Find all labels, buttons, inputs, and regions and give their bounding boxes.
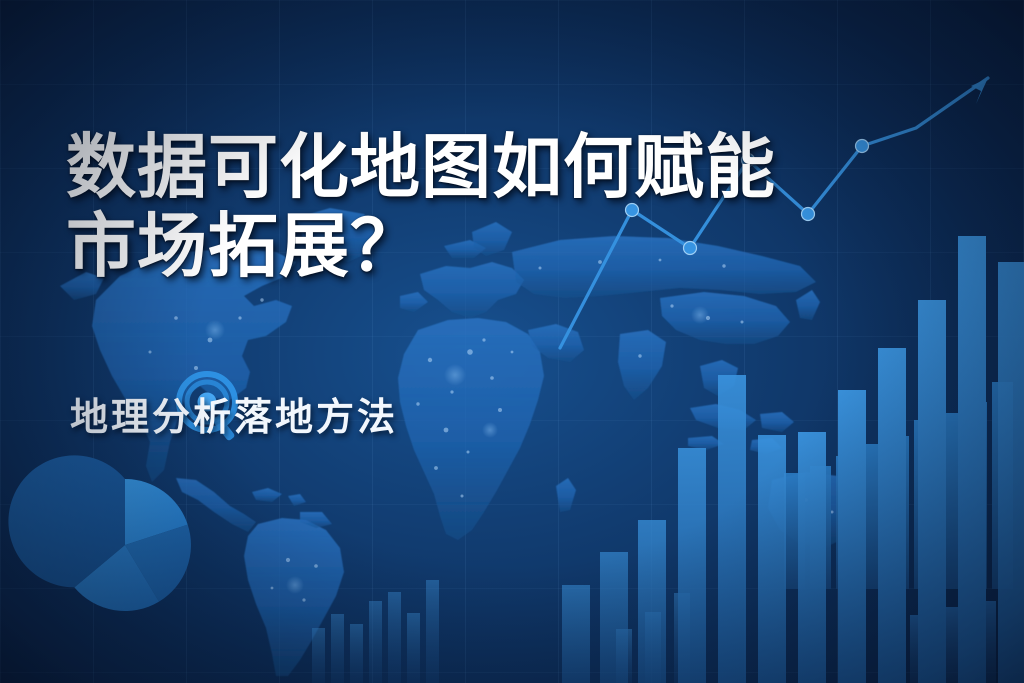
title-line-1: 数据可化地图如何赋能	[66, 128, 776, 206]
poster-canvas: 数据可化地图如何赋能 市场拓展？ 地理分析落地方法	[0, 0, 1024, 683]
title-line-2: 市场拓展？	[66, 207, 776, 285]
page-title: 数据可化地图如何赋能 市场拓展？	[66, 50, 776, 364]
bars-bottom-left	[312, 580, 439, 683]
headline-block: 数据可化地图如何赋能 市场拓展？ 地理分析落地方法	[66, 50, 776, 441]
pie-chart-bottom-left	[8, 455, 191, 611]
page-subtitle: 地理分析落地方法	[70, 386, 776, 441]
